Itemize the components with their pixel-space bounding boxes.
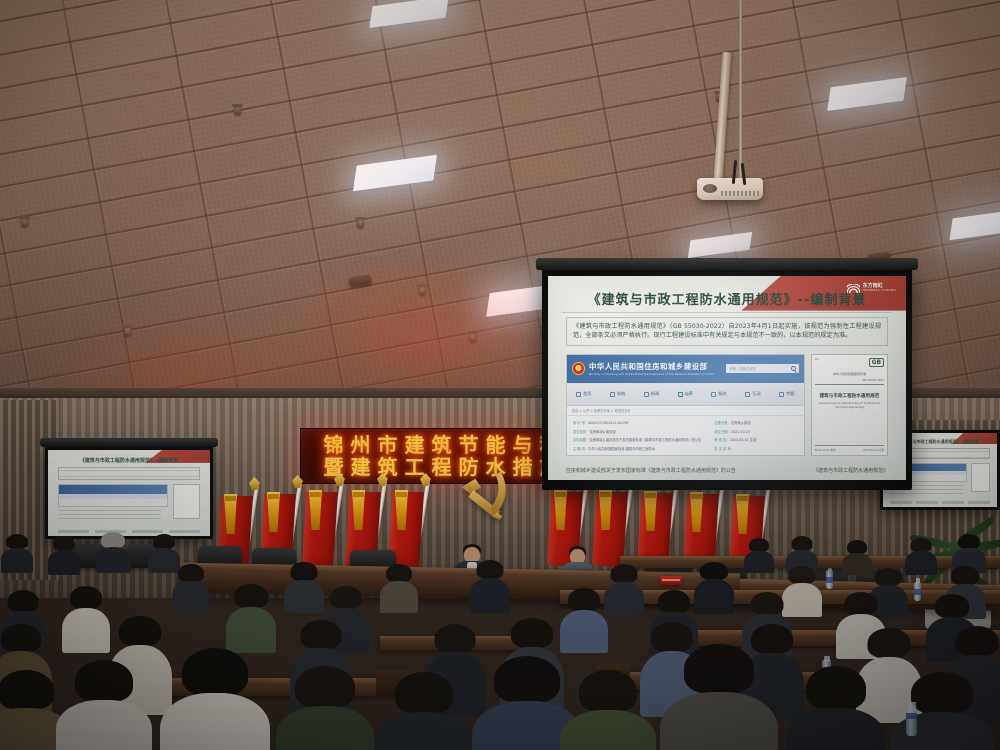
hair xyxy=(847,540,867,554)
audience-member xyxy=(56,660,152,750)
meta-key: 主题分类： xyxy=(714,421,730,425)
search-icon xyxy=(791,366,796,371)
hair xyxy=(291,562,318,581)
ceiling-grid-line xyxy=(0,0,1000,46)
gb-cover-footer: 2022-10-24 发布 2023-04-01 实施 xyxy=(815,448,884,452)
slide-title-rule xyxy=(562,312,891,313)
ceiling-grid-line xyxy=(0,0,1000,13)
gb-org-name: 中华人民共和国国家标准 xyxy=(815,372,884,376)
hair xyxy=(792,536,813,551)
gb-standard-number: GB 55030-2022 xyxy=(815,378,884,382)
gov-search-box[interactable]: 请输入搜索关键词 xyxy=(726,364,799,373)
hair xyxy=(119,616,161,646)
gb-standard-cover: ICS GB 中华人民共和国国家标准 GB 55030-2022 建筑与市政工程… xyxy=(811,354,888,456)
audience-member xyxy=(905,538,937,574)
gov-nav-label: 新闻 xyxy=(651,391,659,397)
shoulders xyxy=(786,708,886,750)
meta-row: 主题分类：住房城乡建设 xyxy=(714,420,797,425)
shoulders xyxy=(1,548,33,573)
shoulders xyxy=(172,581,210,613)
meta-key: 发 文 字 号： xyxy=(714,447,734,451)
hair xyxy=(6,534,28,549)
audience-member xyxy=(226,584,276,652)
gb-title-cn: 建筑与市政工程防水通用规范 xyxy=(815,393,884,399)
projection-surface: 东方雨虹 ORIENTAL YUHONG 《建筑与市政工程防水通用规范》--编制… xyxy=(548,276,906,480)
gb-ics-label: ICS xyxy=(815,358,819,361)
audience-member xyxy=(560,670,656,750)
hair xyxy=(956,626,999,656)
org-icon xyxy=(610,392,615,397)
hair xyxy=(511,618,553,648)
gov-nav-bar xyxy=(59,494,167,499)
projector-vent xyxy=(721,191,759,196)
gov-nav-bar: 首页 机构 新闻 公开 服务 互动 专题 xyxy=(567,383,804,406)
screen-case-main xyxy=(536,258,918,270)
audience-member xyxy=(276,666,374,750)
water-bottle xyxy=(914,582,921,601)
gov-nav-label: 公开 xyxy=(685,391,693,397)
meta-key: 有 效 性： xyxy=(714,438,729,442)
party-emblem-hammer-sickle-icon xyxy=(452,466,514,524)
hair xyxy=(868,628,911,658)
hair xyxy=(749,538,769,552)
gb-title-en: General code for waterproofing of buildi… xyxy=(815,402,884,410)
gov-site-header: 中华人民共和国住房和城乡建设部 Ministry of Housing and … xyxy=(567,355,804,384)
shoulders xyxy=(380,581,418,613)
banner-line-1: 锦州市建筑节能与科 xyxy=(324,434,567,456)
gov-search-placeholder: 请输入搜索关键词 xyxy=(729,366,756,371)
slide-captions: 住房和城乡建设部关于发布国家标准《建筑与市政工程防水通用规范》的公告 《建筑与市… xyxy=(566,467,888,474)
meta-column-left: 索 引 号：000013338/2022-00198 发文机关：住房和城乡建设部… xyxy=(573,420,706,451)
hair xyxy=(178,564,204,582)
breadcrumb: 首页 > 公开 > 政策文件库 > 规范性文件 xyxy=(567,406,804,416)
hair xyxy=(845,592,878,615)
hair xyxy=(494,656,560,703)
audience-member xyxy=(96,532,130,572)
audience-member xyxy=(660,644,778,750)
meta-row: 文件标题：住房和城乡建设部关于发布国家标准《建筑与市政工程防水通用规范》的公告 xyxy=(573,437,706,442)
gov-nav-item[interactable]: 首页 xyxy=(576,391,591,397)
gov-title-cn: 中华人民共和国住房和城乡建设部 xyxy=(589,361,714,372)
water-bottle xyxy=(906,706,917,736)
audience-member xyxy=(376,672,472,750)
gov-nav-item[interactable]: 服务 xyxy=(711,391,726,397)
sprinkler-head xyxy=(357,219,364,228)
ceiling-grid-line xyxy=(0,0,1000,302)
hair xyxy=(1,624,41,652)
hair xyxy=(658,590,690,613)
side-gb-cover xyxy=(173,484,201,518)
ceiling-grid-line xyxy=(0,0,1000,78)
gov-nav-label: 首页 xyxy=(583,391,591,397)
meta-value: 2022-10-24 xyxy=(731,430,750,434)
hair xyxy=(935,594,969,618)
hair xyxy=(789,566,816,584)
shoulders xyxy=(560,610,608,653)
hair xyxy=(153,534,175,549)
sprinkler-head xyxy=(21,218,28,227)
disclosure-icon xyxy=(678,392,683,397)
audience-member xyxy=(284,562,324,612)
gb-logo-icon: GB xyxy=(869,358,885,367)
shoulders xyxy=(160,693,270,750)
shoulders xyxy=(744,551,774,573)
audience-member xyxy=(48,536,80,574)
shoulders xyxy=(96,547,130,573)
audience-member xyxy=(172,564,210,612)
hair xyxy=(182,648,248,696)
hair xyxy=(395,672,453,714)
meta-column-right: 主题分类：住房城乡建设 成文日期：2022-10-24 有 效 性：2023-0… xyxy=(714,420,797,451)
hair xyxy=(611,564,638,583)
audience-member xyxy=(786,666,886,750)
meta-key: 文件标题： xyxy=(573,438,589,442)
gov-title-en: Ministry of Housing and Urban-Rural Deve… xyxy=(589,372,714,376)
meta-value: 000013338/2022-00198 xyxy=(588,421,628,425)
gb-cover-top: ICS GB xyxy=(815,358,884,367)
hair xyxy=(568,588,600,611)
hair xyxy=(386,564,412,582)
gb-divider xyxy=(815,384,884,385)
gov-nav-label: 机构 xyxy=(617,391,625,397)
hair xyxy=(951,566,979,585)
projector xyxy=(697,178,763,200)
hair xyxy=(684,644,754,694)
shoulders xyxy=(62,608,110,653)
hair-cap xyxy=(700,562,728,580)
hair xyxy=(330,586,362,609)
shoulders xyxy=(48,550,80,575)
meta-key: 成文日期： xyxy=(714,430,730,434)
side-slide-paragraph xyxy=(58,467,201,480)
shoulders xyxy=(660,692,778,750)
gov-header-bar xyxy=(59,485,167,494)
hair xyxy=(70,586,102,609)
presentation-slide: 东方雨虹 ORIENTAL YUHONG 《建筑与市政工程防水通用规范》--编制… xyxy=(548,276,906,480)
sprinkler-head xyxy=(469,333,476,342)
audience-member xyxy=(694,562,734,614)
audience xyxy=(0,520,1000,750)
shoulders xyxy=(284,580,324,613)
hair xyxy=(75,660,133,702)
audience-member xyxy=(744,538,774,572)
meta-row: 发文机关：住房和城乡建设部 xyxy=(573,429,706,434)
projector-rail xyxy=(739,0,742,180)
gov-nav-item-active[interactable]: 公开 xyxy=(678,391,693,397)
shoulders xyxy=(56,700,152,750)
hair xyxy=(751,592,784,615)
shoulders xyxy=(276,706,374,750)
meta-key: 索 引 号： xyxy=(573,421,588,425)
meta-value: 住房和城乡建设部 xyxy=(589,430,615,434)
screen-case-left xyxy=(40,438,218,447)
caption-right: 《建筑与市政工程防水通用规范》 xyxy=(813,467,888,474)
sprinkler-head xyxy=(234,106,241,115)
shoulders xyxy=(470,578,510,613)
slide-paragraph: 《建筑与市政工程防水通用规范》（GB 55030-2022）自2023年4月1日… xyxy=(566,317,888,346)
news-icon xyxy=(644,392,649,397)
shoulders xyxy=(905,551,937,575)
sprinkler-head xyxy=(419,286,426,295)
gb-effective-date: 2023-04-01 实施 xyxy=(863,448,884,452)
gov-website-screenshot: 中华人民共和国住房和城乡建设部 Ministry of Housing and … xyxy=(566,354,805,456)
audience-member xyxy=(604,564,644,614)
meta-row: 索 引 号：000013338/2022-00198 xyxy=(573,420,706,425)
audience-member xyxy=(380,564,418,612)
caption-left: 住房和城乡建设部关于发布国家标准《建筑与市政工程防水通用规范》的公告 xyxy=(566,467,736,474)
slide-title: 《建筑与市政工程防水通用规范》--编制背景 xyxy=(548,289,906,308)
audience-member xyxy=(560,588,608,652)
audience-member xyxy=(470,560,510,612)
topic-icon xyxy=(779,392,784,397)
hair xyxy=(301,620,342,649)
sprinkler-head xyxy=(124,327,131,336)
hair xyxy=(0,670,54,710)
gov-nav-label: 服务 xyxy=(718,391,726,397)
meta-key: 主 题 词： xyxy=(573,447,588,451)
gov-document-metadata: 索 引 号：000013338/2022-00198 发文机关：住房和城乡建设部… xyxy=(567,416,804,455)
service-icon xyxy=(711,392,716,397)
home-icon xyxy=(576,392,581,397)
hair xyxy=(477,560,504,579)
side-gov-site-screenshot xyxy=(58,484,168,506)
audience-member xyxy=(160,648,270,750)
shoulders xyxy=(604,582,644,615)
meta-value: 中华人民共和国国家标准 建筑与市政工程防水 xyxy=(588,447,655,451)
shoulders xyxy=(560,710,656,750)
meta-row: 主 题 词：中华人民共和国国家标准 建筑与市政工程防水 xyxy=(573,446,706,451)
side-slide-title: 《建筑与市政工程防水通用规范》--编制背景 xyxy=(48,457,210,464)
hair xyxy=(295,666,355,708)
gov-nav-item[interactable]: 机构 xyxy=(610,391,625,397)
banner-line-2: 暨建筑工程防水措施 xyxy=(324,456,567,478)
gov-nav-label: 专题 xyxy=(786,391,794,397)
hair xyxy=(579,670,637,712)
gov-nav-item[interactable]: 专题 xyxy=(779,391,794,397)
conference-hall-photo: 锦州市建筑节能与科 暨建筑工程防水措施 xyxy=(0,0,1000,750)
national-emblem-icon xyxy=(572,362,585,375)
audience-member xyxy=(62,586,110,652)
meta-value: 住房和城乡建设部关于发布国家标准《建筑与市政工程防水通用规范》的公告 xyxy=(589,438,701,442)
hair xyxy=(911,672,973,714)
meta-value: 2023-04-01 生效 xyxy=(730,438,757,442)
hair xyxy=(234,584,268,608)
hair xyxy=(875,568,902,586)
gov-nav-item[interactable]: 新闻 xyxy=(644,391,659,397)
projector-lens xyxy=(703,184,717,193)
hair xyxy=(53,536,75,551)
ceiling-grid-line xyxy=(336,0,490,420)
side-gb-cover-right xyxy=(971,463,990,493)
meta-key: 发文机关： xyxy=(573,430,589,434)
audience-member xyxy=(1,534,33,572)
shoulders xyxy=(376,712,472,750)
shoulders xyxy=(694,579,734,614)
gb-issue-date: 2022-10-24 发布 xyxy=(815,448,836,452)
hair xyxy=(8,590,39,612)
interaction-icon xyxy=(745,392,750,397)
hair xyxy=(958,534,980,549)
gov-nav-item[interactable]: 互动 xyxy=(745,391,760,397)
gov-nav-label: 互动 xyxy=(752,391,760,397)
meta-value: 住房城乡建设 xyxy=(731,421,751,425)
hair xyxy=(435,624,476,653)
gb-footer-divider xyxy=(815,445,884,446)
hair-grey xyxy=(101,532,125,548)
shoulders xyxy=(226,607,276,653)
main-projection-screen: 东方雨虹 ORIENTAL YUHONG 《建筑与市政工程防水通用规范》--编制… xyxy=(542,268,912,490)
slide-body: 中华人民共和国住房和城乡建设部 Ministry of Housing and … xyxy=(566,354,888,456)
meta-row: 成文日期：2022-10-24 xyxy=(714,429,797,434)
hair xyxy=(911,538,932,552)
meta-row: 有 效 性：2023-04-01 生效 xyxy=(714,437,797,442)
hair xyxy=(806,666,866,710)
gov-site-titles: 中华人民共和国住房和城乡建设部 Ministry of Housing and … xyxy=(589,361,714,376)
meta-row: 发 文 字 号： xyxy=(714,446,797,451)
ceiling-grid-line xyxy=(0,0,1000,142)
